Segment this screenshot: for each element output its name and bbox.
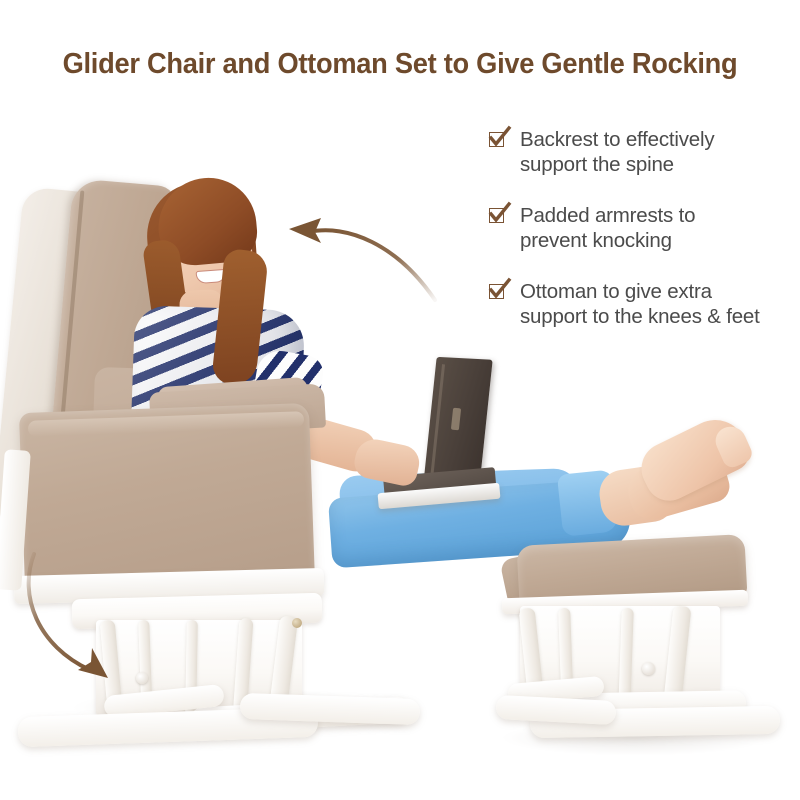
feature-item-armrests: Padded armrests to prevent knocking: [489, 203, 800, 253]
product-poster: Glider Chair and Ottoman Set to Give Gen…: [0, 0, 800, 800]
feature-item-backrest: Backrest to effectively support the spin…: [489, 127, 800, 177]
checkbox-checked-icon: [489, 132, 508, 151]
ottoman-pivot-knob: [642, 662, 655, 675]
checkbox-checked-icon: [489, 284, 508, 303]
product-photo: [0, 120, 520, 800]
chair-base-screw: [292, 618, 302, 628]
ottoman-rear-runner: [495, 695, 616, 725]
feature-text-backrest: Backrest to effectively support the spin…: [520, 127, 714, 177]
feature-item-ottoman: Ottoman to give extra support to the kne…: [489, 279, 800, 329]
page-title: Glider Chair and Ottoman Set to Give Gen…: [24, 48, 776, 81]
feature-text-armrests: Padded armrests to prevent knocking: [520, 203, 695, 253]
checkbox-checked-icon: [489, 208, 508, 227]
chair-base-pivot-knob: [136, 672, 148, 684]
feature-list: Backrest to effectively support the spin…: [489, 127, 800, 355]
feature-text-ottoman: Ottoman to give extra support to the kne…: [520, 279, 760, 329]
